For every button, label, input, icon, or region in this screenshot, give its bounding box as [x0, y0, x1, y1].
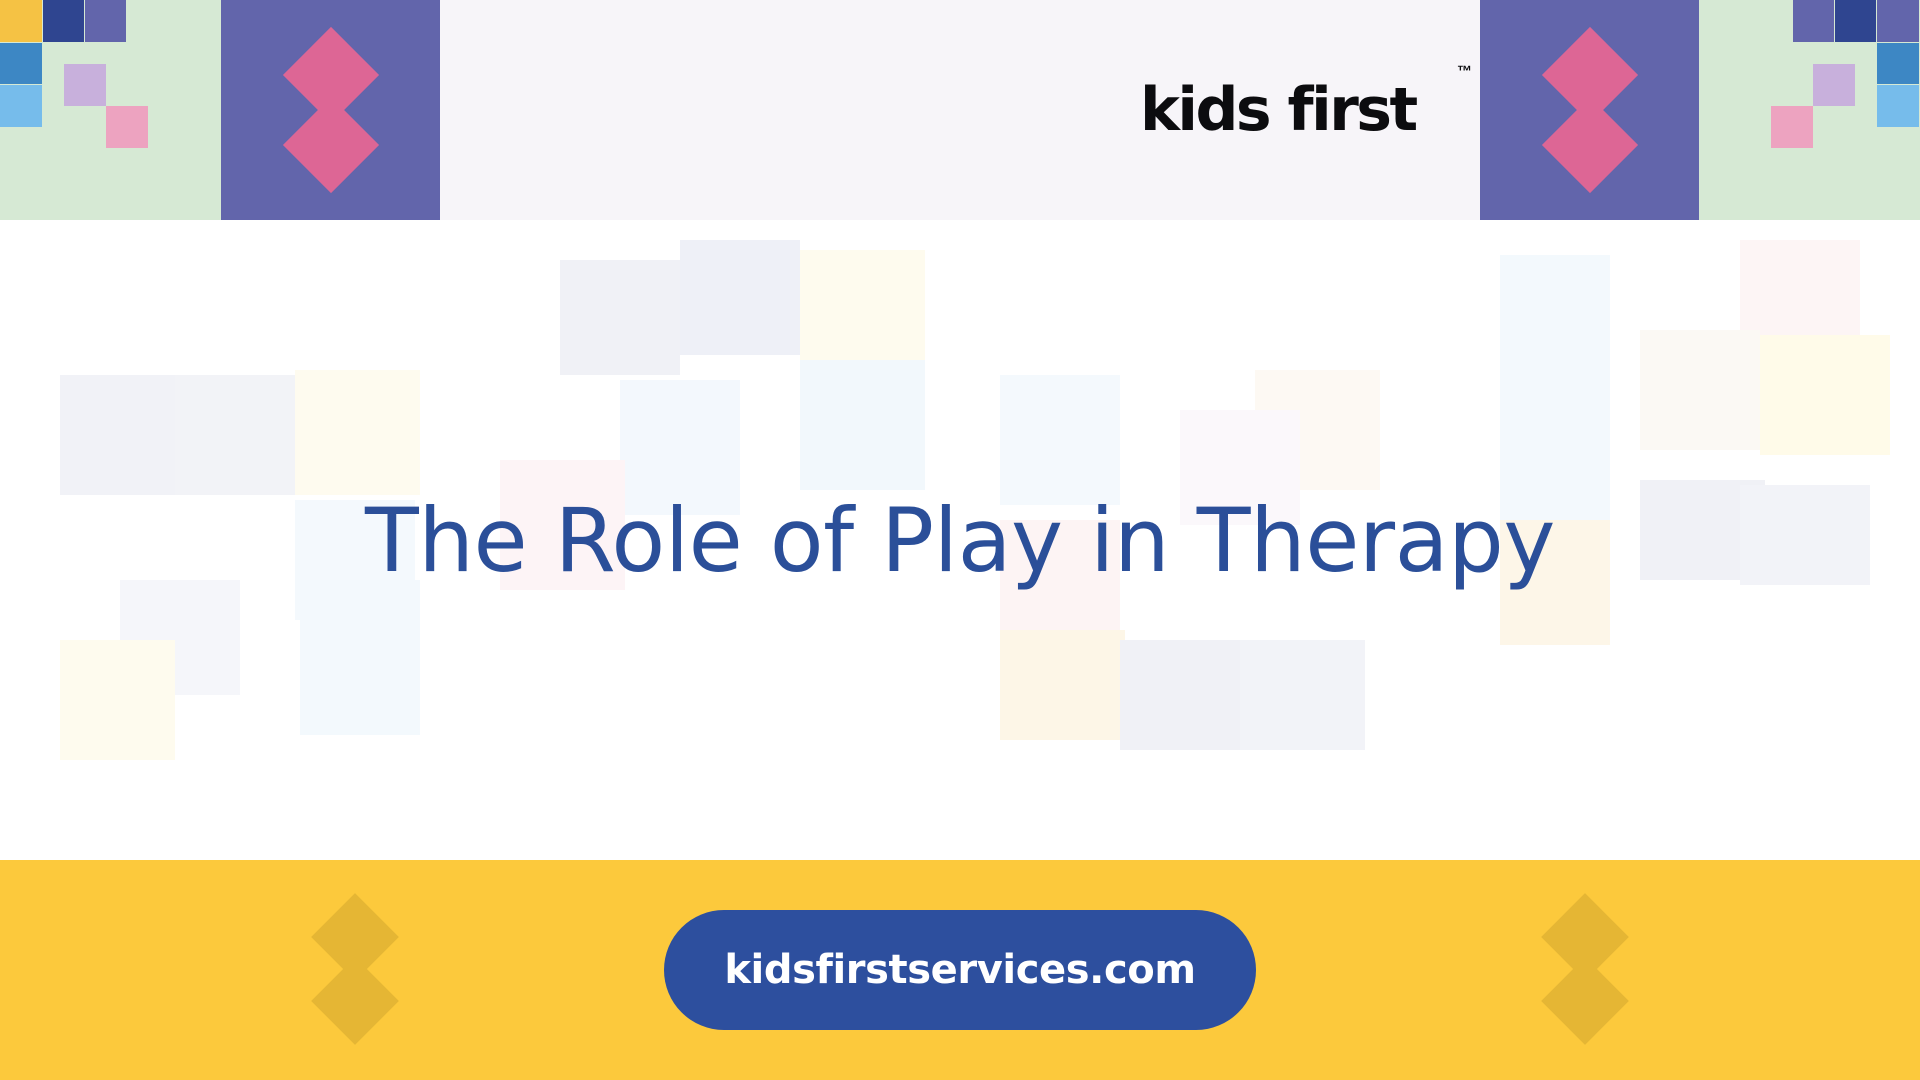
header-tile-left-1 [43, 0, 84, 42]
footer-double-diamond-icon-left [300, 900, 410, 1040]
banner-canvas: kids first ™ The Role of Play in Therapy… [0, 0, 1920, 1080]
website-cta-button[interactable]: kidsfirstservices.com [664, 910, 1256, 1030]
header-tile-right-0 [1877, 0, 1919, 42]
header-logo-area: kids first ™ [440, 0, 1480, 220]
header-bar: kids first ™ [0, 0, 1920, 220]
header-tile-left-0 [0, 0, 42, 42]
header-mint-panel-left [0, 0, 221, 220]
header-tile-right-2 [1793, 0, 1834, 42]
header-tile-left-4 [0, 85, 42, 127]
header-tile-right-5 [1813, 64, 1855, 106]
header-tile-left-6 [106, 106, 148, 148]
logo-wordmark: kids first [1140, 80, 1416, 140]
header-tile-left-5 [64, 64, 106, 106]
header-purple-panel-right [1480, 0, 1699, 220]
footer-bar: kidsfirstservices.com [0, 860, 1920, 1080]
footer-double-diamond-icon-right [1530, 900, 1640, 1040]
header-purple-panel-left [221, 0, 440, 220]
header-tile-right-3 [1877, 43, 1919, 84]
header-tile-left-3 [0, 43, 42, 84]
header-mint-panel-right [1699, 0, 1920, 220]
header-tile-right-1 [1835, 0, 1876, 42]
header-tile-right-4 [1877, 85, 1919, 127]
body-area: The Role of Play in Therapy [0, 220, 1920, 860]
page-title: The Role of Play in Therapy [0, 220, 1920, 860]
double-diamond-icon-right [1530, 35, 1650, 185]
double-diamond-icon-left [271, 35, 391, 185]
header-tile-left-2 [85, 0, 126, 42]
header-tile-right-6 [1771, 106, 1813, 148]
trademark-symbol: ™ [1457, 63, 1473, 80]
